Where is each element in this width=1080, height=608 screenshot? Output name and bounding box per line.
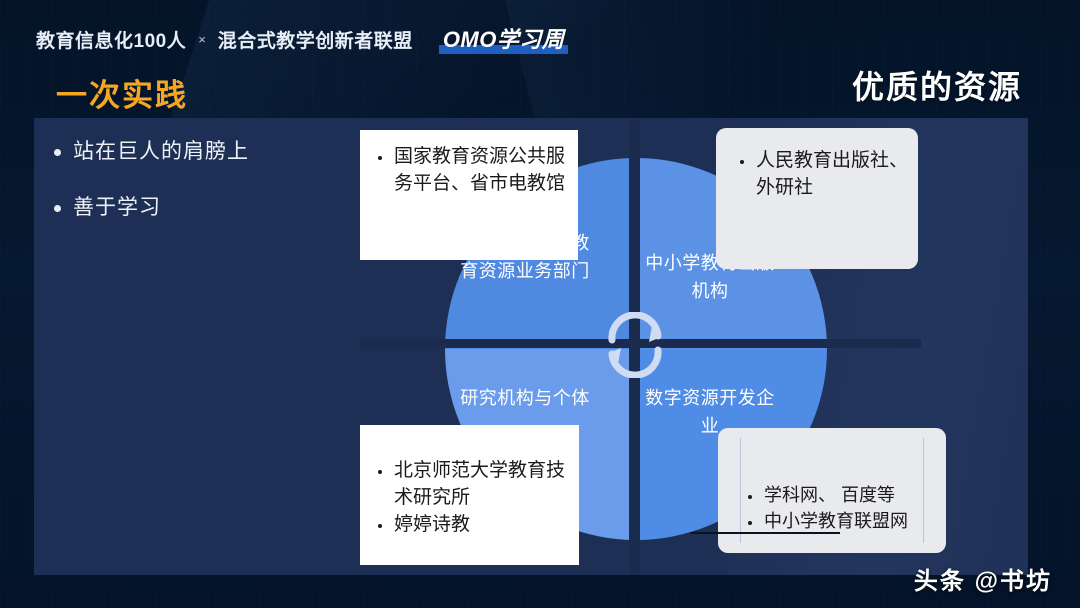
callout-top-left: 国家教育资源公共服务平台、省市电教馆 <box>360 130 578 260</box>
bullet-label: 站在巨人的肩膀上 <box>73 138 249 166</box>
slide-canvas: 教育信息化100人 × 混合式教学创新者联盟 OMO学习周 一次实践 优质的资源… <box>0 0 1080 608</box>
background-chevron-shape-secondary <box>505 0 835 120</box>
brand-separator: × <box>196 32 208 47</box>
list-item: 善于学习 <box>54 194 344 222</box>
header-brand-line: 教育信息化100人 × 混合式教学创新者联盟 OMO学习周 <box>36 22 568 57</box>
partner-name: 混合式教学创新者联盟 <box>218 26 413 53</box>
callout-top-left-list: 国家教育资源公共服务平台、省市电教馆 <box>372 144 568 198</box>
callout-top-right-list: 人民教育出版社、外研社 <box>734 148 908 202</box>
callout-bottom-left: 北京师范大学教育技术研究所 婷婷诗教 <box>360 425 579 565</box>
page-title: 优质的资源 <box>852 62 1022 108</box>
bullet-dot-icon <box>54 149 61 156</box>
bullet-list: 站在巨人的肩膀上 善于学习 <box>54 138 344 251</box>
list-item: 人民教育出版社、外研社 <box>734 148 908 202</box>
list-item: 国家教育资源公共服务平台、省市电教馆 <box>372 144 568 198</box>
list-item: 中小学教育联盟网 <box>742 509 940 535</box>
campaign-label: OMO学习周 <box>443 27 565 52</box>
section-title-left: 一次实践 <box>56 70 188 115</box>
callout-top-right: 人民教育出版社、外研社 <box>716 128 918 269</box>
bullet-dot-icon <box>54 205 61 212</box>
list-item: 站在巨人的肩膀上 <box>54 138 344 166</box>
callout-bottom-right: 学科网、 百度等 中小学教育联盟网 <box>718 428 946 553</box>
cycle-arrows-icon <box>604 312 666 378</box>
callout-bottom-left-list: 北京师范大学教育技术研究所 婷婷诗教 <box>372 458 571 539</box>
list-item: 婷婷诗教 <box>372 512 571 539</box>
callout-bottom-right-list: 学科网、 百度等 中小学教育联盟网 <box>742 483 940 534</box>
list-item: 北京师范大学教育技术研究所 <box>372 458 571 512</box>
list-item: 学科网、 百度等 <box>742 483 940 509</box>
callout-guide-line-left <box>740 438 741 543</box>
brand-name: 教育信息化100人 <box>36 26 186 53</box>
watermark: 头条 @书坊 <box>914 561 1052 596</box>
quadrant-label-bottom-left: 研究机构与个体 <box>455 385 595 413</box>
campaign-badge: OMO学习周 <box>439 22 569 57</box>
bullet-label: 善于学习 <box>73 194 161 222</box>
